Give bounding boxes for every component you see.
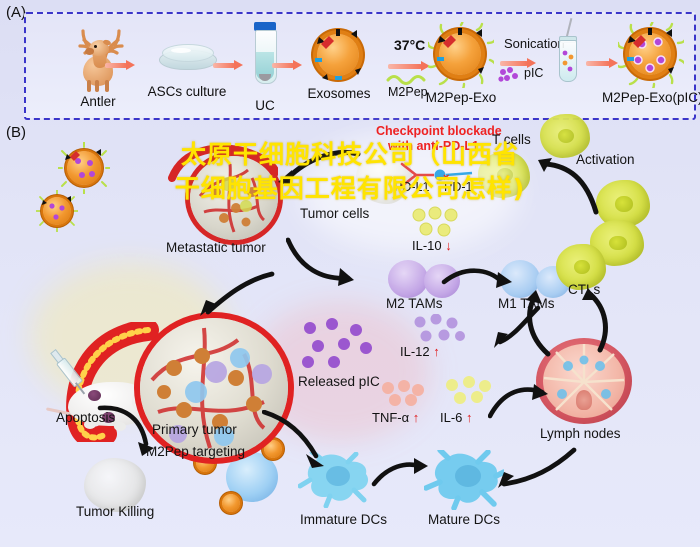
sonication-tube-icon	[556, 30, 578, 86]
step-m2pep-exo-pic: M2Pep-Exo(pIC)	[602, 22, 700, 105]
label-released-pic: Released pIC	[298, 374, 380, 389]
step-m2pep-exo-pic-caption: M2Pep-Exo(pIC)	[602, 90, 700, 105]
figure-canvas: (A)	[0, 0, 700, 547]
cytokine-il-6-arrow: ↑	[466, 410, 473, 425]
centrifuge-tube-icon	[252, 22, 278, 92]
arrow-immature-to-mature-dc	[370, 458, 432, 492]
cytokine-il-12-arrow: ↑	[433, 344, 440, 359]
exosome-icon	[311, 28, 367, 84]
label-mature-dcs: Mature DCs	[428, 512, 500, 527]
m2-tam-cell	[388, 260, 428, 298]
label-metastatic-tumor: Metastatic tumor	[166, 240, 266, 255]
deer-leg	[95, 80, 99, 92]
deer-leg	[105, 80, 109, 92]
cytokine-tnf-alpha-arrow: ↑	[413, 410, 420, 425]
label-checkpoint-line1: Checkpoint blockade	[376, 124, 502, 138]
tnf-alpha-molecules-icon	[380, 380, 430, 408]
exosome-proteins	[311, 28, 367, 84]
deer-icon	[67, 28, 129, 90]
arrow-maturedc-to-lymph	[498, 446, 578, 494]
cytokine-tnf-alpha: TNF-α ↑	[372, 410, 419, 425]
label-primary-tumor: Primary tumor	[152, 422, 237, 437]
step-uc-caption: UC	[236, 98, 294, 113]
watermark-line-2: 干细胞基因工程有限公司怎样)	[0, 172, 700, 206]
arrow-m1-to-lymph	[494, 306, 548, 358]
arrow-lymphnode-to-ctls-2	[576, 288, 636, 354]
label-m2-tams: M2 TAMs	[386, 296, 443, 311]
label-apoptosis: Apoptosis	[56, 410, 115, 425]
cytokine-il-12-name: IL-12	[400, 344, 430, 359]
label-m2pep-targeting: M2Pep targeting	[146, 444, 245, 459]
watermark-line-1: 太原干细胞科技公司（山西省	[0, 138, 700, 172]
label-tumor-killing: Tumor Killing	[76, 504, 154, 519]
step-ascs-caption: ASCs culture	[131, 84, 243, 99]
step-ascs-culture: ASCs culture	[131, 42, 243, 99]
cytokine-il-10-arrow: ↓	[445, 238, 452, 253]
loaded-exosome-icon	[618, 22, 684, 88]
cytokine-il-10-name: IL-10	[412, 238, 442, 253]
mature-dc-cell	[424, 450, 504, 515]
cytokine-il-6: IL-6 ↑	[440, 410, 473, 425]
il-12-molecules-icon	[412, 314, 472, 346]
arrow-to-lymph-node	[488, 384, 550, 424]
step-m2pep-exo-caption: M2Pep-Exo	[406, 90, 516, 105]
step-exosomes: Exosomes	[296, 28, 382, 101]
il-10-molecules-icon	[410, 206, 466, 242]
panel-a-label: (A)	[6, 4, 26, 21]
cytokine-il-12: IL-12 ↑	[400, 344, 440, 359]
cytokine-il-10: IL-10 ↓	[412, 238, 452, 253]
pic-molecule-icon	[498, 66, 522, 84]
exosome-proteins	[428, 22, 494, 88]
label-immature-dcs: Immature DCs	[300, 512, 387, 527]
tube-contents	[560, 48, 576, 78]
arrow-to-m2-tams	[286, 234, 356, 290]
step-antler-caption: Antler	[58, 94, 138, 109]
petri-dish-icon	[159, 42, 215, 72]
arrow-tumor-to-dc	[262, 410, 334, 472]
watermark-overlay: 太原干细胞科技公司（山西省 干细胞基因工程有限公司怎样)	[0, 138, 700, 206]
peptide-exosome-icon	[428, 22, 494, 88]
label-tumor-cells: Tumor cells	[300, 206, 369, 221]
deer-snout	[85, 48, 94, 55]
arrow-tumor-arrow	[198, 264, 278, 320]
pic-label: pIC	[524, 66, 543, 80]
label-lymph-nodes: Lymph nodes	[540, 426, 621, 441]
released-pic-molecules-icon	[300, 318, 386, 372]
cytokine-il-6-name: IL-6	[440, 410, 462, 425]
label-m1-tams: M1 TAMs	[498, 296, 555, 311]
step-exosomes-caption: Exosomes	[296, 86, 382, 101]
nanoparticle-small-icon	[222, 494, 240, 512]
cytokine-tnf-alpha-name: TNF-α	[372, 410, 409, 425]
encapsulated-pic	[618, 22, 684, 88]
deer-leg	[87, 80, 91, 92]
deer-eye	[94, 45, 97, 48]
panel-a: (A)	[0, 0, 700, 122]
label-ctls: CTLs	[568, 282, 600, 297]
